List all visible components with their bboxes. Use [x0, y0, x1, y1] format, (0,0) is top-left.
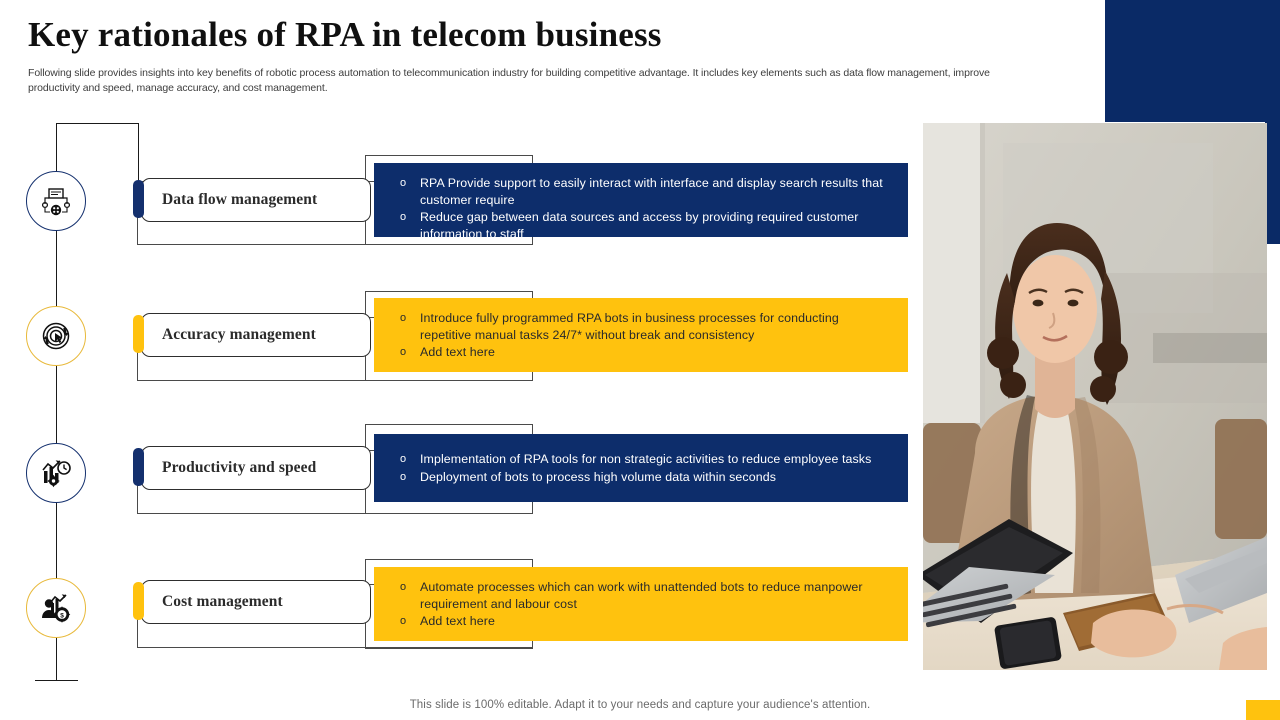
row-label-text-4: Cost management: [162, 593, 283, 611]
bullet-item: RPA Provide support to easily interact w…: [396, 175, 892, 208]
page-subtitle: Following slide provides insights into k…: [28, 66, 1033, 96]
row-accent-tab-1: [133, 180, 144, 218]
row-accent-tab-4: [133, 582, 144, 620]
row-label-text-2: Accuracy management: [162, 326, 316, 344]
row-content-1: RPA Provide support to easily interact w…: [374, 163, 908, 237]
slide-canvas: Key rationales of RPA in telecom busines…: [0, 0, 1280, 720]
bullet-item: Reduce gap between data sources and acce…: [396, 209, 892, 242]
row-label-4[interactable]: Cost management: [141, 580, 371, 624]
row-label-text-1: Data flow management: [162, 191, 317, 209]
row-bullets-2: Introduce fully programmed RPA bots in b…: [396, 310, 892, 361]
bullet-item: Add text here: [396, 344, 892, 361]
bullet-item: Add text here: [396, 613, 892, 630]
productivity-speed-icon: [26, 443, 86, 503]
row-bullets-4: Automate processes which can work with u…: [396, 579, 892, 630]
timeline-spine-top: [56, 123, 139, 124]
row-label-2[interactable]: Accuracy management: [141, 313, 371, 357]
data-flow-icon: [26, 171, 86, 231]
row-bullets-3: Implementation of RPA tools for non stra…: [396, 451, 892, 485]
row-accent-tab-3: [133, 448, 144, 486]
svg-text:$: $: [60, 612, 64, 619]
bullet-item: Introduce fully programmed RPA bots in b…: [396, 310, 892, 343]
bullet-item: Automate processes which can work with u…: [396, 579, 892, 612]
timeline-spine-foot: [35, 680, 78, 681]
navy-accent-block: [1105, 0, 1280, 122]
navy-accent-strip: [1265, 122, 1280, 244]
page-title: Key rationales of RPA in telecom busines…: [28, 14, 1078, 56]
row-content-2: Introduce fully programmed RPA bots in b…: [374, 298, 908, 372]
timeline-spine-top-drop: [138, 123, 139, 181]
accuracy-target-icon: [26, 306, 86, 366]
cost-management-icon: $: [26, 578, 86, 638]
bullet-item: Implementation of RPA tools for non stra…: [396, 451, 892, 468]
bullet-item: Deployment of bots to process high volum…: [396, 469, 892, 486]
footer-note: This slide is 100% editable. Adapt it to…: [0, 699, 1280, 711]
row-bullets-1: RPA Provide support to easily interact w…: [396, 175, 892, 242]
row-content-4: Automate processes which can work with u…: [374, 567, 908, 641]
row-label-1[interactable]: Data flow management: [141, 178, 371, 222]
hero-photo: [923, 123, 1267, 670]
row-content-3: Implementation of RPA tools for non stra…: [374, 434, 908, 502]
row-label-text-3: Productivity and speed: [162, 459, 316, 477]
row-label-3[interactable]: Productivity and speed: [141, 446, 371, 490]
row-accent-tab-2: [133, 315, 144, 353]
